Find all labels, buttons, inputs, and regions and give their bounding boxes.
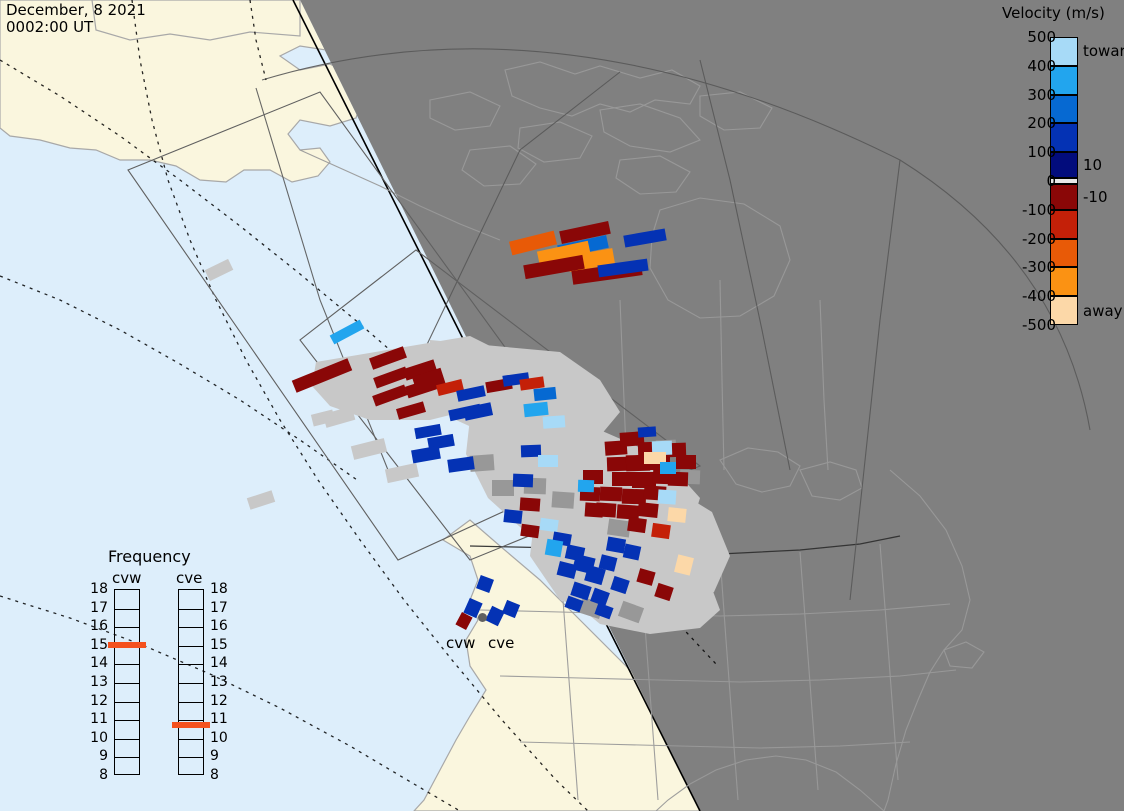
velocity-cell[interactable]: 160 m/s bbox=[606, 537, 626, 554]
colorbar-tick-label: 500 bbox=[1027, 30, 1056, 45]
frequency-column-label-cve: cve bbox=[176, 569, 202, 587]
velocity-cell[interactable]: 160 m/s bbox=[623, 543, 642, 560]
velocity-cell[interactable]: 430 m/s bbox=[539, 518, 558, 532]
velocity-cell[interactable]: -60 m/s bbox=[637, 502, 658, 518]
velocity-cell[interactable]: 160 m/s bbox=[463, 402, 493, 421]
frequency-tick-label: 17 bbox=[210, 601, 228, 615]
frequency-gridline bbox=[179, 757, 203, 758]
velocity-cell[interactable]: -60 m/s bbox=[520, 524, 539, 538]
frequency-gridline bbox=[179, 683, 203, 684]
colorbar-positive-threshold-label: 10 bbox=[1083, 158, 1102, 173]
velocity-cell[interactable]: 160 m/s bbox=[502, 600, 520, 618]
frequency-gridline bbox=[115, 702, 139, 703]
colorbar-tick-label: -500 bbox=[1022, 318, 1056, 333]
colorbar-tick-label: 100 bbox=[1027, 145, 1056, 160]
frequency-marker-cve bbox=[172, 722, 210, 728]
colorbar-tick-label: 300 bbox=[1027, 88, 1056, 103]
frequency-gridline bbox=[115, 627, 139, 628]
frequency-tick-label: 13 bbox=[86, 675, 108, 689]
velocity-cell[interactable]: -60 m/s bbox=[369, 346, 407, 370]
frequency-gridline bbox=[179, 664, 203, 665]
velocity-cell[interactable]: -60 m/s bbox=[612, 472, 634, 486]
frequency-tick-label: 12 bbox=[86, 694, 108, 708]
site-label-cvw: cvw bbox=[446, 634, 475, 652]
frequency-gridline bbox=[179, 627, 203, 628]
frequency-tick-label: 9 bbox=[86, 749, 108, 763]
velocity-cell[interactable]: -60 m/s bbox=[627, 517, 647, 533]
velocity-cell[interactable]: 160 m/s bbox=[485, 606, 505, 627]
colorbar-tick-label: 0 bbox=[1046, 174, 1056, 189]
radar-map-application: 380 m/s-60 m/s-60 m/s-60 m/s-60 m/s-60 m… bbox=[0, 0, 1124, 811]
frequency-tick-label: 12 bbox=[210, 694, 228, 708]
velocity-cell[interactable]: -450 m/s bbox=[667, 507, 686, 523]
colorbar-tick-label: -100 bbox=[1022, 203, 1056, 218]
colorbar-tick-label: 400 bbox=[1027, 59, 1056, 74]
colorbar-tick-label: -200 bbox=[1022, 232, 1056, 247]
velocity-cell[interactable]: -60 m/s bbox=[600, 487, 622, 502]
frequency-tick-label: 15 bbox=[86, 638, 108, 652]
colorbar-tick-label: -300 bbox=[1022, 260, 1056, 275]
velocity-cell[interactable]: -60 m/s bbox=[396, 401, 426, 419]
timestamp-label: December, 8 20210002:00 UT bbox=[6, 2, 146, 36]
velocity-cell[interactable]: 160 m/s bbox=[513, 474, 533, 488]
site-label-cve: cve bbox=[488, 634, 514, 652]
velocity-cell[interactable]: -60 m/s bbox=[585, 502, 604, 517]
frequency-tick-label: 14 bbox=[210, 656, 228, 670]
frequency-bar-cvw bbox=[114, 589, 140, 775]
velocity-cell[interactable]: 160 m/s bbox=[447, 456, 475, 472]
velocity-cell[interactable]: -60 m/s bbox=[292, 358, 353, 393]
colorbar-negative-threshold-label: -10 bbox=[1083, 190, 1108, 205]
colorbar-tick-label: 200 bbox=[1027, 116, 1056, 131]
frequency-tick-label: 8 bbox=[210, 768, 219, 782]
velocity-cell[interactable]: 320 m/s bbox=[523, 402, 548, 417]
velocity-cell[interactable]: 380 m/s bbox=[330, 320, 365, 345]
frequency-tick-label: 15 bbox=[210, 638, 228, 652]
velocity-cell[interactable]: 430 m/s bbox=[538, 455, 558, 467]
frequency-tick-label: 14 bbox=[86, 656, 108, 670]
velocity-cell[interactable]: 380 m/s bbox=[578, 480, 594, 493]
frequency-gridline bbox=[179, 739, 203, 740]
frequency-bar-cve bbox=[178, 589, 204, 775]
velocity-cell[interactable]: -60 m/s bbox=[676, 455, 696, 469]
frequency-tick-label: 10 bbox=[86, 731, 108, 745]
velocity-cell[interactable]: -60 m/s bbox=[520, 497, 541, 511]
frequency-tick-label: 13 bbox=[210, 675, 228, 689]
velocity-cell[interactable]: 160 m/s bbox=[503, 509, 522, 524]
frequency-tick-label: 11 bbox=[86, 712, 108, 726]
velocity-cell[interactable]: 380 m/s bbox=[545, 539, 564, 558]
frequency-gridline bbox=[179, 702, 203, 703]
velocity-cell[interactable]: -60 m/s bbox=[617, 504, 640, 520]
velocity-cell[interactable]: 260 m/s bbox=[533, 387, 556, 401]
velocity-cell[interactable]: -60 m/s bbox=[636, 568, 655, 586]
velocity-cell[interactable]: 160 m/s bbox=[594, 603, 613, 620]
frequency-tick-label: 18 bbox=[210, 582, 228, 596]
colorbar-toward-label: toward bbox=[1083, 44, 1124, 59]
frequency-tick-label: 17 bbox=[86, 601, 108, 615]
timestamp-time: 0002:00 UT bbox=[6, 18, 93, 36]
velocity-cell[interactable]: 160 m/s bbox=[610, 576, 630, 594]
frequency-gridline bbox=[115, 683, 139, 684]
frequency-tick-label: 16 bbox=[86, 619, 108, 633]
velocity-cell[interactable]: 160 m/s bbox=[638, 426, 657, 437]
frequency-gridline bbox=[179, 646, 203, 647]
velocity-cell[interactable]: -60 m/s bbox=[622, 489, 647, 505]
frequency-tick-label: 10 bbox=[210, 731, 228, 745]
colorbar-away-label: away bbox=[1083, 304, 1123, 319]
velocity-cell[interactable]: 160 m/s bbox=[476, 575, 494, 593]
velocity-legend-title: Velocity (m/s) bbox=[1002, 4, 1105, 22]
frequency-column-label-cvw: cvw bbox=[112, 569, 141, 587]
frequency-tick-label: 8 bbox=[86, 768, 108, 782]
colorbar-tick-label: -400 bbox=[1022, 289, 1056, 304]
timestamp-date: December, 8 2021 bbox=[6, 1, 146, 19]
velocity-cell[interactable]: -450 m/s bbox=[674, 554, 694, 575]
velocity-cell[interactable]: 160 m/s bbox=[411, 446, 441, 464]
frequency-legend-title: Frequency bbox=[108, 547, 191, 566]
velocity-cell[interactable]: -60 m/s bbox=[632, 472, 656, 488]
radar-site-marker bbox=[478, 613, 487, 622]
frequency-tick-label: 11 bbox=[210, 712, 228, 726]
frequency-gridline bbox=[115, 720, 139, 721]
frequency-marker-cvw bbox=[108, 642, 146, 648]
frequency-gridline bbox=[115, 664, 139, 665]
frequency-gridline bbox=[179, 609, 203, 610]
frequency-legend: Frequency cvw18171615141312111098cve1817… bbox=[86, 547, 236, 782]
frequency-gridline bbox=[115, 609, 139, 610]
velocity-cell[interactable]: 430 m/s bbox=[658, 489, 677, 504]
velocity-cell[interactable]: 430 m/s bbox=[543, 415, 566, 429]
frequency-tick-label: 18 bbox=[86, 582, 108, 596]
velocity-cell[interactable]: 380 m/s bbox=[660, 462, 676, 474]
frequency-tick-label: 9 bbox=[210, 749, 219, 763]
velocity-cell[interactable]: 160 m/s bbox=[623, 228, 666, 247]
velocity-cell[interactable]: -60 m/s bbox=[654, 583, 674, 601]
frequency-tick-label: 16 bbox=[210, 619, 228, 633]
velocity-cell[interactable]: -130 m/s bbox=[651, 523, 671, 539]
frequency-gridline bbox=[115, 757, 139, 758]
frequency-gridline bbox=[115, 739, 139, 740]
